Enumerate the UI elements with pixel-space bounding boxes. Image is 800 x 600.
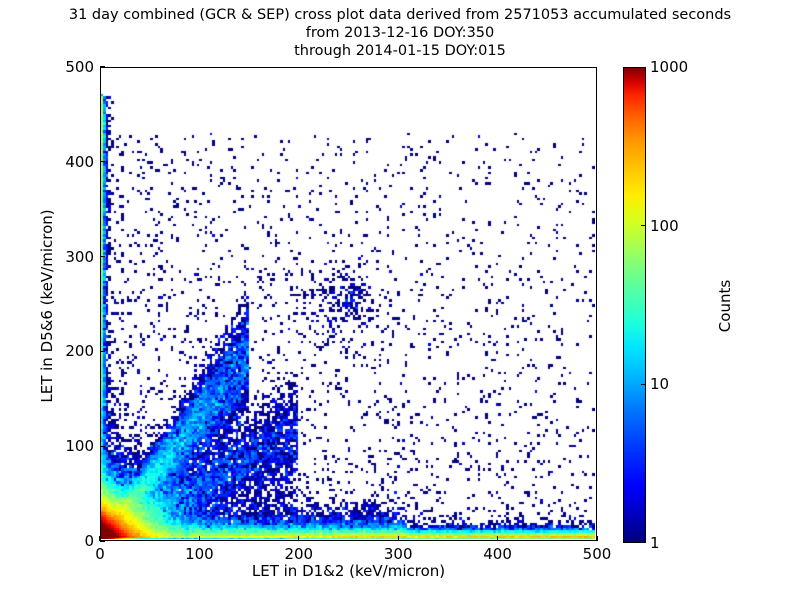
colorbar bbox=[623, 67, 646, 543]
colorbar-tick-label: 100 bbox=[650, 217, 679, 235]
x-tick-mark bbox=[497, 536, 498, 541]
y-axis-label: LET in D5&6 (keV/micron) bbox=[38, 69, 56, 543]
x-tick-mark bbox=[398, 536, 399, 541]
x-tick-label: 500 bbox=[562, 545, 632, 563]
plot-area bbox=[100, 67, 597, 541]
colorbar-label: Counts bbox=[716, 156, 734, 456]
y-tick-mark bbox=[100, 161, 105, 162]
colorbar-tick-label: 1000 bbox=[650, 58, 688, 76]
y-tick-mark bbox=[100, 540, 105, 541]
x-tick-label: 400 bbox=[463, 545, 533, 563]
y-tick-mark bbox=[100, 351, 105, 352]
colorbar-tick-label: 1 bbox=[650, 534, 660, 552]
y-tick-mark bbox=[100, 256, 105, 257]
x-tick-label: 100 bbox=[164, 545, 234, 563]
y-tick-mark bbox=[100, 66, 105, 67]
colorbar-tick-label: 10 bbox=[650, 375, 669, 393]
y-tick-mark bbox=[100, 446, 105, 447]
chart-title-line-1: 31 day combined (GCR & SEP) cross plot d… bbox=[0, 6, 800, 24]
x-tick-mark bbox=[298, 536, 299, 541]
colorbar-tick-mark bbox=[641, 384, 646, 385]
chart-title-line-2: from 2013-12-16 DOY:350 bbox=[0, 24, 800, 42]
colorbar-tick-mark bbox=[641, 225, 646, 226]
x-tick-mark bbox=[199, 536, 200, 541]
x-tick-label: 200 bbox=[264, 545, 334, 563]
x-tick-label: 300 bbox=[363, 545, 433, 563]
density-heatmap bbox=[101, 68, 595, 539]
x-tick-mark bbox=[596, 536, 597, 541]
chart-title: 31 day combined (GCR & SEP) cross plot d… bbox=[0, 6, 800, 60]
figure-canvas: 31 day combined (GCR & SEP) cross plot d… bbox=[0, 0, 800, 600]
x-axis-label: LET in D1&2 (keV/micron) bbox=[100, 562, 597, 580]
